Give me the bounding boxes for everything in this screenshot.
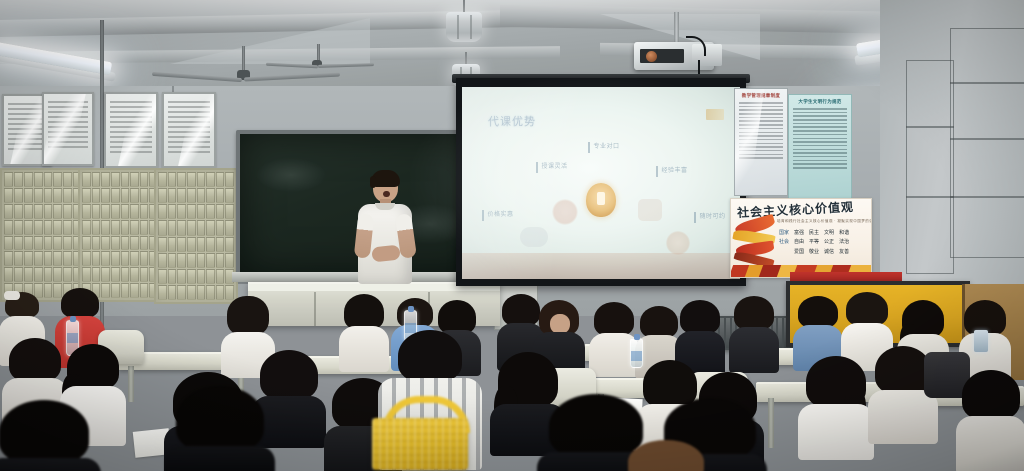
slide-title: 代课优势 (488, 113, 536, 129)
student-hair (734, 296, 774, 330)
student-hair (798, 296, 838, 328)
core-values-list: 国家 富强 民主 文明 和谐 社会 自由 平等 公正 法治 个人 爱国 敬业 诚… (779, 229, 849, 257)
poster-body-lines (789, 105, 851, 169)
wall-tile (950, 138, 1024, 198)
slide-bullet: 价格实惠 (482, 209, 514, 221)
student-face (550, 314, 570, 334)
slide-bullet-label: 随时可约 (700, 211, 726, 220)
core-values-row: 社会 自由 平等 公正 法治 (779, 238, 849, 247)
wall-tile (950, 196, 1024, 258)
cloud-icon (520, 227, 548, 247)
student-torso (868, 390, 938, 444)
regulations-poster: 教学管理规章制度 (734, 88, 788, 196)
core-values-banner: 社会主义核心价值观 培育和践行社会主义核心价值观 · 凝聚实现中国梦的强大精神力… (730, 198, 872, 278)
student-torso (0, 458, 101, 471)
chalk-smudge (256, 158, 326, 192)
value-category: 社会 (779, 238, 789, 247)
student-hair (962, 370, 1020, 420)
value-item: 诚信 (824, 248, 834, 257)
student-hair (594, 302, 634, 336)
bullet-bar (588, 142, 590, 153)
desk-leg (768, 398, 774, 448)
notice-frame (42, 92, 94, 166)
slide-bullet-label: 专业对口 (594, 141, 620, 150)
phone-storage-pocket-chart (78, 168, 162, 302)
student-conduct-poster: 大学生文明行为规范 (788, 94, 852, 204)
wall-tile (950, 82, 1024, 140)
student-hair (227, 296, 269, 336)
student (730, 296, 778, 370)
value-item: 和谐 (839, 229, 849, 238)
value-item: 民主 (809, 229, 819, 238)
smartphone (974, 330, 988, 352)
student-torso (798, 404, 874, 460)
student-hair (846, 292, 888, 326)
core-values-row: 个人 爱国 敬业 诚信 友善 (779, 248, 849, 257)
projector-mount-arm (674, 12, 679, 42)
slide-bullet: 专业对口 (588, 141, 620, 153)
core-values-row: 国家 富强 民主 文明 和谐 (779, 229, 849, 238)
hair-clip (4, 291, 20, 300)
classroom-photo: 代课优势 授课灵活 专业对口 经验丰富 价格实惠 (0, 0, 1024, 471)
student (622, 440, 710, 471)
value-item: 敬业 (809, 248, 819, 257)
podium-seam (314, 292, 316, 326)
wall-tile (906, 196, 954, 274)
pendant-lamp (446, 0, 482, 46)
desk-leg (128, 366, 134, 402)
bullet-bar (694, 212, 696, 223)
pendant-shade (446, 12, 482, 42)
student-hair (344, 294, 384, 330)
student-hair (875, 346, 931, 394)
slide-bullet-label: 经验丰富 (662, 165, 688, 174)
value-item: 公正 (824, 238, 834, 247)
ceiling-projector (634, 38, 726, 78)
student (958, 370, 1024, 470)
slide-bullet-label: 价格实惠 (488, 209, 514, 218)
slide-logo (706, 109, 724, 120)
bottle-label (67, 333, 78, 343)
projection-screen: 代课优势 授课灵活 专业对口 经验丰富 价格实惠 (462, 87, 740, 279)
student (800, 356, 872, 456)
student-hair (680, 300, 720, 334)
projector-lens (646, 51, 657, 62)
student-hair (640, 306, 678, 338)
student (0, 400, 98, 471)
chat-bubble-icon (638, 199, 662, 221)
phone-storage-pocket-chart (0, 168, 86, 302)
bullet-bar (482, 210, 484, 221)
projection-screen-frame: 代课优势 授课灵活 专业对口 经验丰富 价格实惠 (456, 78, 746, 286)
student-hair (398, 330, 462, 382)
bullet-bar (536, 162, 538, 173)
wall-tile (950, 28, 1024, 84)
student-hair (61, 288, 99, 318)
bag-weave-texture (372, 418, 468, 470)
student-hair (438, 300, 476, 334)
slide-bullet-label: 授课灵活 (542, 161, 568, 170)
student (168, 386, 272, 471)
value-item: 自由 (794, 238, 804, 247)
projector-cable (686, 36, 706, 56)
student-hair (0, 400, 89, 464)
lecturer (356, 172, 414, 288)
student-hair (628, 440, 704, 471)
star-badge-icon (586, 183, 616, 217)
phone-storage-pocket-chart (154, 168, 238, 304)
bullet-bar (656, 166, 658, 177)
student-torso (956, 416, 1024, 471)
banner-subtitle: 培育和践行社会主义核心价值观 · 凝聚实现中国梦的强大精神力量 (777, 219, 872, 224)
yellow-woven-bag (372, 418, 468, 470)
student-torso (729, 327, 779, 373)
person-icon (552, 199, 578, 225)
student-hair (176, 386, 264, 452)
ceiling-fan (236, 46, 250, 82)
value-item: 文明 (824, 229, 834, 238)
lecturer-mouth (383, 191, 390, 197)
poster-title: 大学生文明行为规范 (789, 95, 851, 105)
slide-bullet: 经验丰富 (656, 165, 688, 177)
student-torso (165, 446, 275, 471)
slide-bullet: 授课灵活 (536, 161, 568, 173)
notice-frame (162, 92, 216, 168)
value-item: 友善 (839, 248, 849, 257)
slide-footer-band (462, 253, 740, 279)
slide-bullet: 随时可约 (694, 211, 726, 223)
value-category: 国家 (779, 229, 789, 238)
student-hair (9, 338, 61, 382)
value-item: 法治 (839, 238, 849, 247)
value-item: 平等 (809, 238, 819, 247)
lecturer-hair (371, 170, 400, 187)
fan-rod (242, 46, 245, 72)
value-item: 富强 (794, 229, 804, 238)
clock-icon (666, 231, 690, 255)
wall-tile (906, 60, 954, 128)
notice-frame (104, 92, 158, 168)
value-item: 爱国 (794, 248, 804, 257)
ceiling-fan (312, 44, 324, 74)
ceiling-facet (170, 18, 370, 64)
wall-tile (906, 126, 954, 198)
student (340, 294, 388, 368)
